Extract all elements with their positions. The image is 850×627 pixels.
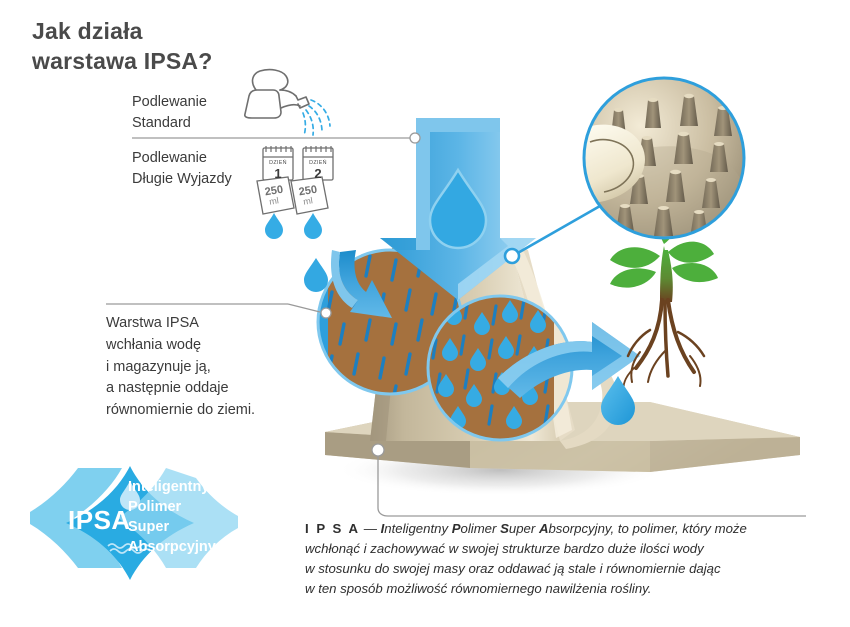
paragraph-line-1: I P S A — Inteligentny Polimer Super Abs… — [305, 519, 830, 539]
label-watering-long-trip: Podlewanie Długie Wyjazdy — [132, 148, 232, 190]
ipsa-logo-text: IPSA — [68, 505, 131, 536]
leader-line-magnifier — [505, 206, 600, 263]
paragraph-line-4: w ten sposób możliwość równomiernego naw… — [305, 579, 830, 599]
watering-can-icon — [245, 70, 309, 118]
acronym-text: I P S A — [305, 521, 360, 536]
paragraph-line-3: w stosunku do swojej masy oraz oddawać j… — [305, 559, 830, 579]
water-drop-icon — [265, 213, 283, 239]
bold-s: S — [500, 521, 509, 536]
page-title: Jak działa warstawa IPSA? — [32, 16, 452, 77]
page-title-line2: warstawa IPSA? — [32, 46, 452, 76]
page-title-line1: Jak działa — [32, 16, 452, 46]
ipsa-tagline-line1: Inteligentny — [128, 478, 278, 498]
label-ipsa-layer-description: Warstwa IPSA wchłania wodę i magazynuje … — [106, 313, 255, 422]
label-watering-standard: Podlewanie Standard — [132, 92, 207, 134]
dash: — — [364, 521, 377, 536]
text-a: bsorpcyjny, to polimer, który może — [548, 521, 746, 536]
ipsa-tagline-line2: Polimer — [128, 498, 278, 518]
text-s: uper — [509, 521, 539, 536]
leader-line-watering — [132, 133, 420, 143]
ipsa-definition-paragraph: I P S A — Inteligentny Polimer Super Abs… — [305, 519, 830, 599]
magnifier-circle-icon — [578, 78, 749, 240]
ipsa-tagline-line3: Super — [128, 518, 278, 538]
ipsa-tagline-line4: Absorpcyjny — [128, 538, 278, 558]
bag-1-day-number: 1 — [263, 166, 293, 181]
water-drop-icon — [304, 213, 322, 239]
bag-2-day-number: 2 — [303, 166, 333, 181]
bold-p: P — [452, 521, 461, 536]
water-drop-icon — [304, 258, 328, 292]
ipsa-tagline: Inteligentny Polimer Super Absorpcyjny — [128, 478, 278, 557]
text-i: nteligentny — [384, 521, 451, 536]
paragraph-line-2: wchłonąć i zachowywać w swojej strukturz… — [305, 539, 830, 559]
text-p: olimer — [461, 521, 501, 536]
